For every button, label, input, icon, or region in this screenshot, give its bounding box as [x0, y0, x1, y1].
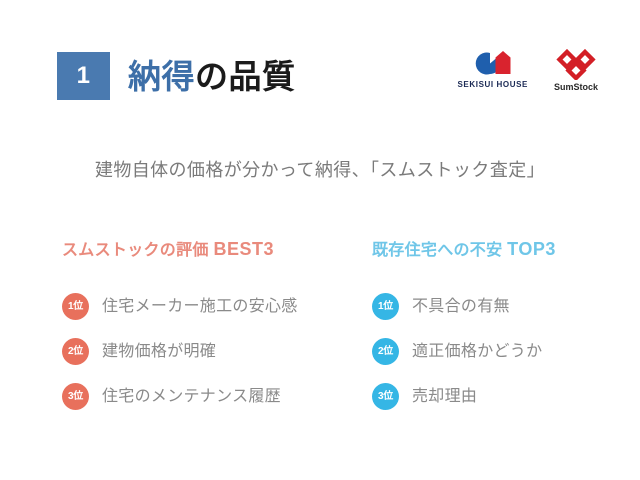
column-heading-left-en: BEST3: [213, 239, 274, 259]
list-item: 3位 住宅のメンテナンス履歴: [62, 374, 362, 419]
slide-canvas: 1 納得の品質 SEKISUI HOUSE: [0, 0, 640, 480]
sumstock-logo: SumStock: [554, 48, 598, 92]
list-item: 2位 建物価格が明確: [62, 329, 362, 374]
page-title-rest: の品質: [195, 58, 296, 95]
rank-badge: 2位: [62, 338, 89, 365]
ranking-list-right: 1位 不具合の有無 2位 適正価格かどうか 3位 売却理由: [372, 284, 622, 419]
sekisui-house-mark: [470, 48, 516, 78]
list-item-label: 不具合の有無: [412, 296, 510, 318]
sekisui-house-logo: SEKISUI HOUSE: [458, 48, 528, 89]
section-number-label: 1: [77, 64, 91, 88]
rank-badge: 1位: [62, 293, 89, 320]
column-heading-left-jp: スムストックの評価: [62, 242, 209, 259]
rank-badge: 3位: [62, 383, 89, 410]
list-item-label: 適正価格かどうか: [412, 341, 542, 363]
column-existing-home-concerns: 既存住宅への不安 TOP3 1位 不具合の有無 2位 適正価格かどうか 3位 売…: [372, 236, 622, 419]
ranking-list-left: 1位 住宅メーカー施工の安心感 2位 建物価格が明確 3位 住宅のメンテナンス履…: [62, 284, 362, 419]
list-item-label: 売却理由: [412, 386, 477, 408]
list-item: 2位 適正価格かどうか: [372, 329, 622, 374]
rank-badge: 1位: [372, 293, 399, 320]
page-title: 納得の品質: [128, 54, 296, 100]
sekisui-house-wordmark: SEKISUI HOUSE: [458, 81, 528, 89]
rank-badge: 2位: [372, 338, 399, 365]
ranking-columns: スムストックの評価 BEST3 1位 住宅メーカー施工の安心感 2位 建物価格が…: [0, 236, 640, 416]
column-heading-right: 既存住宅への不安 TOP3: [372, 236, 622, 264]
list-item: 1位 不具合の有無: [372, 284, 622, 329]
logo-group: SEKISUI HOUSE SumStock: [458, 48, 599, 92]
rank-badge: 3位: [372, 383, 399, 410]
column-heading-left: スムストックの評価 BEST3: [62, 236, 362, 264]
column-heading-right-jp: 既存住宅への不安: [372, 242, 502, 259]
sumstock-mark: [555, 48, 597, 80]
section-number-badge: 1: [57, 52, 110, 100]
column-heading-right-en: TOP3: [507, 239, 556, 259]
list-item-label: 住宅のメンテナンス履歴: [102, 386, 281, 408]
list-item: 1位 住宅メーカー施工の安心感: [62, 284, 362, 329]
sumstock-wordmark: SumStock: [554, 83, 598, 92]
list-item: 3位 売却理由: [372, 374, 622, 419]
list-item-label: 建物価格が明確: [102, 341, 216, 363]
page-title-accent: 納得: [128, 58, 195, 95]
slide-subtitle: 建物自体の価格が分かって納得、「スムストック査定」: [0, 155, 640, 185]
column-sumstock-evaluation: スムストックの評価 BEST3 1位 住宅メーカー施工の安心感 2位 建物価格が…: [62, 236, 362, 419]
list-item-label: 住宅メーカー施工の安心感: [102, 296, 298, 318]
slide-header: 1 納得の品質 SEKISUI HOUSE: [0, 0, 640, 120]
